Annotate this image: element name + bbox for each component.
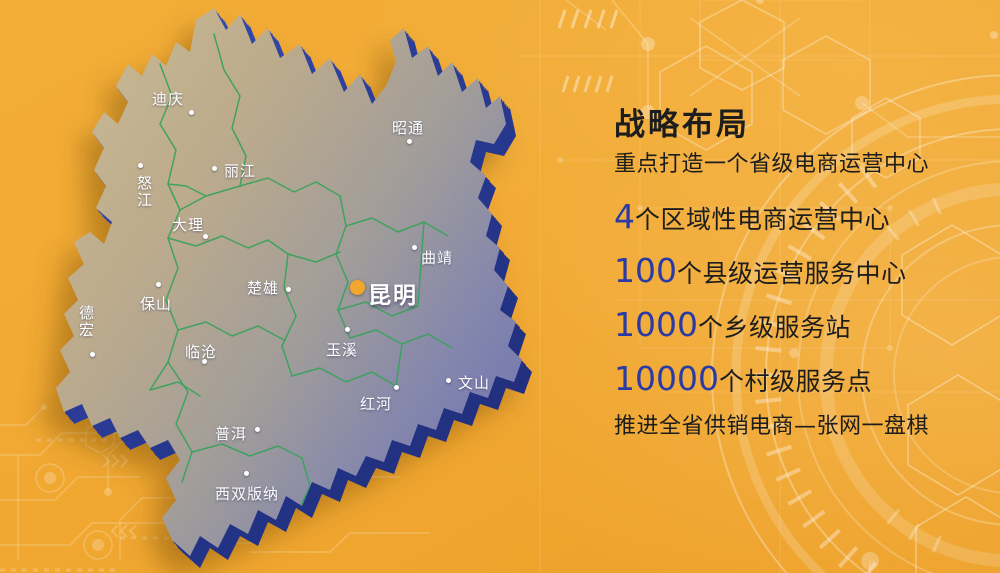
panel-item-3-text: 个村级服务点 bbox=[719, 367, 872, 396]
panel-item-0: 4个区域性电商运营中心 bbox=[614, 200, 1000, 233]
page-title: 战略布局 bbox=[614, 108, 1000, 142]
city-label-8: 德宏 bbox=[78, 305, 93, 339]
city-dot-8[interactable] bbox=[90, 352, 95, 357]
city-dot-3[interactable] bbox=[138, 163, 143, 168]
panel-lead-line: 重点打造一个省级电商运营中心 bbox=[614, 154, 1000, 176]
city-dot-0[interactable] bbox=[189, 110, 194, 115]
city-label-11: 临沧 bbox=[185, 341, 217, 362]
panel-item-1: 100个县级运营服务中心 bbox=[614, 254, 1000, 287]
city-label-12: 文山 bbox=[458, 372, 490, 393]
city-dot-5[interactable] bbox=[412, 245, 417, 250]
panel-item-2: 1000个乡级服务站 bbox=[614, 308, 1000, 341]
city-label-10: 玉溪 bbox=[326, 339, 358, 360]
city-dot-13[interactable] bbox=[394, 385, 399, 390]
city-label-13: 红河 bbox=[360, 393, 392, 414]
panel-tail-line: 推进全省供销电商—张网一盘棋 bbox=[614, 416, 1000, 438]
strategy-panel: 战略布局 重点打造一个省级电商运营中心 4个区域性电商运营中心 100个县级运营… bbox=[614, 108, 1000, 438]
city-label-15: 西双版纳 bbox=[215, 483, 279, 504]
city-dot-7[interactable] bbox=[156, 282, 161, 287]
panel-item-2-number: 1000 bbox=[614, 305, 698, 344]
city-label-6: 楚雄 bbox=[247, 277, 279, 298]
capital-dot-kunming[interactable] bbox=[350, 280, 365, 295]
hexagon-node-dots bbox=[641, 0, 998, 119]
city-dot-14[interactable] bbox=[255, 427, 260, 432]
city-label-7: 保山 bbox=[140, 293, 172, 314]
city-label-4: 大理 bbox=[172, 214, 204, 235]
panel-item-3: 10000个村级服务点 bbox=[614, 362, 1000, 395]
city-label-5: 曲靖 bbox=[421, 247, 453, 268]
city-label-2: 丽江 bbox=[224, 160, 256, 181]
yunnan-map[interactable]: 迪庆昭通丽江怒江大理曲靖楚雄保山德宏玉溪临沧文山红河普洱西双版纳 昆明 bbox=[0, 0, 620, 573]
city-dot-10[interactable] bbox=[345, 327, 350, 332]
slide-canvas: 迪庆昭通丽江怒江大理曲靖楚雄保山德宏玉溪临沧文山红河普洱西双版纳 昆明 战略布局… bbox=[0, 0, 1000, 573]
city-dot-2[interactable] bbox=[212, 166, 217, 171]
panel-item-0-number: 4 bbox=[614, 197, 635, 236]
city-label-1: 昭通 bbox=[392, 117, 424, 138]
city-label-3: 怒江 bbox=[136, 175, 151, 209]
city-dot-1[interactable] bbox=[407, 139, 412, 144]
city-label-0: 迪庆 bbox=[152, 88, 184, 109]
panel-item-0-text: 个区域性电商运营中心 bbox=[635, 205, 890, 234]
panel-item-3-number: 10000 bbox=[614, 359, 719, 398]
panel-item-2-text: 个乡级服务站 bbox=[698, 313, 851, 342]
panel-item-1-text: 个县级运营服务中心 bbox=[677, 259, 907, 288]
city-label-14: 普洱 bbox=[215, 423, 247, 444]
city-dot-15[interactable] bbox=[244, 471, 249, 476]
capital-label-kunming: 昆明 bbox=[368, 276, 418, 310]
city-dot-6[interactable] bbox=[286, 287, 291, 292]
city-dot-12[interactable] bbox=[446, 378, 451, 383]
panel-item-1-number: 100 bbox=[614, 251, 677, 290]
